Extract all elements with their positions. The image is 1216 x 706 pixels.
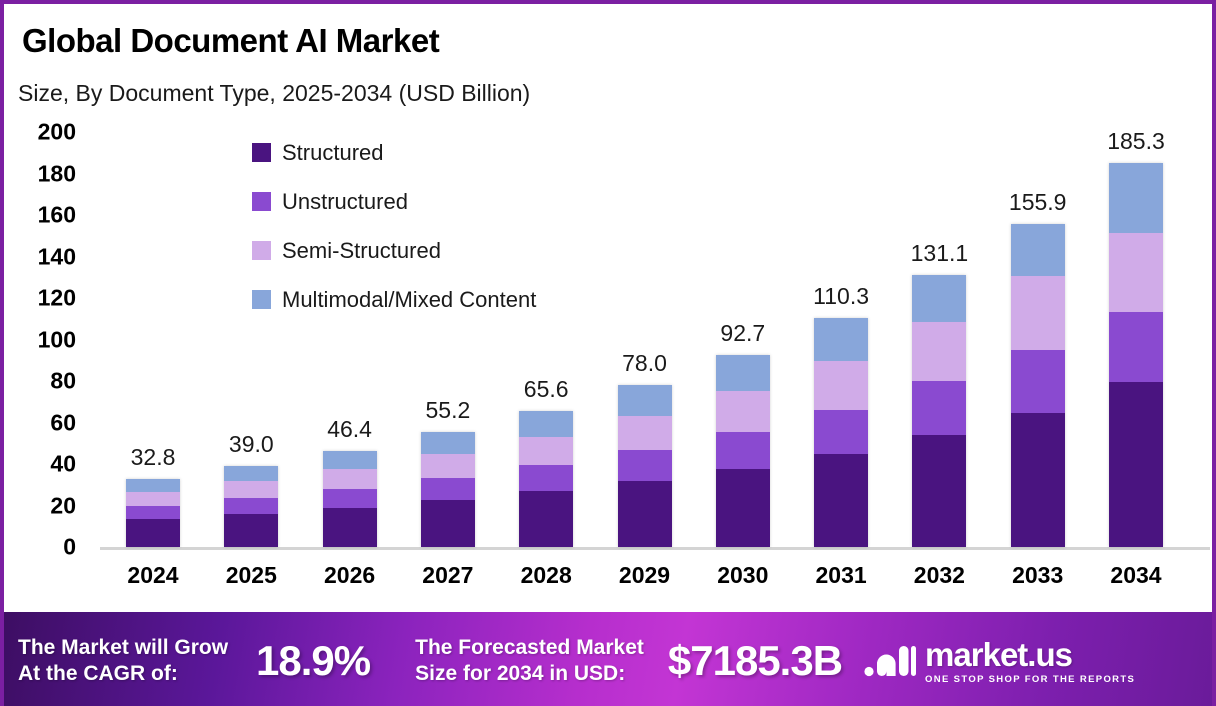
bar-stack[interactable] [1011, 224, 1065, 547]
bar-stack[interactable] [421, 432, 475, 547]
bar-segment[interactable] [421, 432, 475, 454]
bar-segment[interactable] [519, 491, 573, 547]
bar-segment[interactable] [224, 466, 278, 481]
x-axis-tick-label: 2034 [1110, 562, 1161, 589]
y-axis-tick-label: 60 [50, 409, 76, 436]
bar-segment[interactable] [618, 450, 672, 481]
bar-stack[interactable] [224, 466, 278, 547]
bar-segment[interactable] [421, 454, 475, 478]
bar-segment[interactable] [421, 478, 475, 500]
bar-segment[interactable] [814, 410, 868, 454]
bar-value-label: 32.8 [131, 444, 176, 471]
bar-segment[interactable] [224, 481, 278, 498]
footer-banner: The Market will Grow At the CAGR of: 18.… [4, 612, 1212, 706]
x-axis-tick-label: 2031 [816, 562, 867, 589]
legend-item[interactable]: Semi-Structured [252, 226, 536, 275]
y-axis-tick-label: 80 [50, 368, 76, 395]
bar-segment[interactable] [1109, 233, 1163, 312]
y-axis-tick-label: 40 [50, 451, 76, 478]
bar-segment[interactable] [323, 451, 377, 469]
y-axis-tick-label: 100 [38, 326, 76, 353]
legend-item-label: Structured [282, 140, 384, 166]
legend-item[interactable]: Structured [252, 128, 536, 177]
bar-group[interactable]: 78.0 [618, 385, 672, 547]
y-axis-tick-label: 20 [50, 492, 76, 519]
bar-segment[interactable] [323, 469, 377, 489]
bar-segment[interactable] [126, 519, 180, 547]
legend-swatch-icon [252, 143, 271, 162]
forecast-label: The Forecasted Market Size for 2034 in U… [415, 635, 644, 686]
bar-segment[interactable] [323, 489, 377, 507]
bar-segment[interactable] [224, 514, 278, 547]
bar-segment[interactable] [519, 411, 573, 437]
bar-value-label: 65.6 [524, 376, 569, 403]
forecast-value: $7185.3B [668, 637, 842, 685]
legend-item-label: Multimodal/Mixed Content [282, 287, 536, 313]
bar-group[interactable]: 46.4 [323, 451, 377, 547]
legend-item-label: Semi-Structured [282, 238, 441, 264]
y-axis-tick-label: 120 [38, 285, 76, 312]
bar-segment[interactable] [814, 318, 868, 361]
x-axis-tick-label: 2027 [422, 562, 473, 589]
cagr-value-block: 18.9% [256, 637, 370, 685]
x-axis-tick-label: 2030 [717, 562, 768, 589]
bar-segment[interactable] [126, 492, 180, 506]
y-axis: 200180160140120100806040200 [4, 117, 86, 553]
bar-segment[interactable] [1109, 382, 1163, 547]
forecast-value-block: $7185.3B [668, 637, 842, 685]
bar-segment[interactable] [912, 435, 966, 547]
cagr-label: The Market will Grow At the CAGR of: [18, 635, 228, 686]
forecast-block: The Forecasted Market Size for 2034 in U… [415, 635, 644, 686]
bar-segment[interactable] [618, 481, 672, 547]
bar-segment[interactable] [519, 437, 573, 466]
bar-segment[interactable] [716, 391, 770, 432]
bar-segment[interactable] [1109, 163, 1163, 233]
bar-stack[interactable] [1109, 163, 1163, 547]
market-us-logo-icon [864, 641, 916, 681]
legend-swatch-icon [252, 290, 271, 309]
bar-value-label: 78.0 [622, 350, 667, 377]
y-axis-tick-label: 0 [63, 534, 76, 561]
bar-stack[interactable] [126, 479, 180, 547]
bar-segment[interactable] [1011, 413, 1065, 547]
bar-segment[interactable] [323, 508, 377, 547]
bar-segment[interactable] [618, 416, 672, 450]
bar-value-label: 110.3 [813, 283, 869, 310]
bar-stack[interactable] [519, 411, 573, 547]
bar-value-label: 185.3 [1107, 128, 1165, 155]
legend-item-label: Unstructured [282, 189, 408, 215]
x-axis-tick-label: 2032 [914, 562, 965, 589]
y-axis-tick-label: 200 [38, 119, 76, 146]
x-axis-tick-label: 2028 [521, 562, 572, 589]
bar-segment[interactable] [224, 498, 278, 513]
logo-tagline: ONE STOP SHOP FOR THE REPORTS [925, 674, 1135, 685]
bar-value-label: 46.4 [327, 416, 372, 443]
chart-legend: StructuredUnstructuredSemi-StructuredMul… [252, 128, 536, 324]
bar-segment[interactable] [912, 322, 966, 381]
bar-stack[interactable] [323, 451, 377, 547]
bar-segment[interactable] [126, 506, 180, 519]
bar-group[interactable]: 185.3 [1109, 163, 1163, 547]
x-axis-tick-label: 2025 [226, 562, 277, 589]
bar-segment[interactable] [618, 385, 672, 416]
bar-stack[interactable] [814, 318, 868, 547]
bar-value-label: 92.7 [720, 320, 765, 347]
bar-value-label: 39.0 [229, 431, 274, 458]
page-title: Global Document AI Market [22, 22, 439, 60]
bar-segment[interactable] [814, 454, 868, 547]
bar-group[interactable]: 92.7 [716, 355, 770, 547]
x-axis: 2024202520262027202820292030203120322033… [100, 562, 1210, 596]
y-axis-tick-label: 140 [38, 243, 76, 270]
cagr-block: The Market will Grow At the CAGR of: [18, 635, 228, 686]
y-axis-tick-label: 160 [38, 202, 76, 229]
bar-segment[interactable] [912, 275, 966, 322]
bar-value-label: 131.1 [911, 240, 969, 267]
logo-text: market.us ONE STOP SHOP FOR THE REPORTS [925, 638, 1135, 685]
bar-stack[interactable] [912, 275, 966, 547]
bar-group[interactable]: 55.2 [421, 432, 475, 547]
legend-item[interactable]: Multimodal/Mixed Content [252, 275, 536, 324]
bar-segment[interactable] [1109, 312, 1163, 382]
bar-segment[interactable] [716, 469, 770, 547]
bar-segment[interactable] [1011, 350, 1065, 413]
x-axis-tick-label: 2029 [619, 562, 670, 589]
bar-group[interactable]: 155.9 [1011, 224, 1065, 547]
legend-item[interactable]: Unstructured [252, 177, 536, 226]
chart-infographic: Global Document AI Market Size, By Docum… [0, 0, 1216, 706]
x-axis-tick-label: 2024 [127, 562, 178, 589]
chart-subtitle: Size, By Document Type, 2025-2034 (USD B… [18, 80, 530, 107]
bar-segment[interactable] [519, 465, 573, 491]
y-axis-tick-label: 180 [38, 160, 76, 187]
logo-wordmark: market.us [925, 638, 1135, 671]
bar-segment[interactable] [421, 500, 475, 547]
bar-segment[interactable] [912, 381, 966, 435]
bar-segment[interactable] [716, 432, 770, 469]
bar-stack[interactable] [618, 385, 672, 547]
bar-segment[interactable] [1011, 276, 1065, 349]
x-axis-tick-label: 2026 [324, 562, 375, 589]
cagr-value: 18.9% [256, 637, 370, 685]
bar-segment[interactable] [1011, 224, 1065, 277]
legend-swatch-icon [252, 241, 271, 260]
bar-group[interactable]: 110.3 [814, 318, 868, 547]
bar-stack[interactable] [716, 355, 770, 547]
bar-group[interactable]: 131.1 [912, 275, 966, 547]
bar-segment[interactable] [814, 361, 868, 410]
bar-segment[interactable] [716, 355, 770, 391]
bar-value-label: 155.9 [1009, 189, 1067, 216]
legend-swatch-icon [252, 192, 271, 211]
x-axis-line [100, 547, 1210, 550]
bar-segment[interactable] [126, 479, 180, 492]
x-axis-tick-label: 2033 [1012, 562, 1063, 589]
bar-group[interactable]: 32.8 [126, 479, 180, 547]
bar-group[interactable]: 65.6 [519, 411, 573, 547]
bar-group[interactable]: 39.0 [224, 466, 278, 547]
market-us-logo: market.us ONE STOP SHOP FOR THE REPORTS [864, 638, 1135, 685]
bar-value-label: 55.2 [426, 397, 471, 424]
